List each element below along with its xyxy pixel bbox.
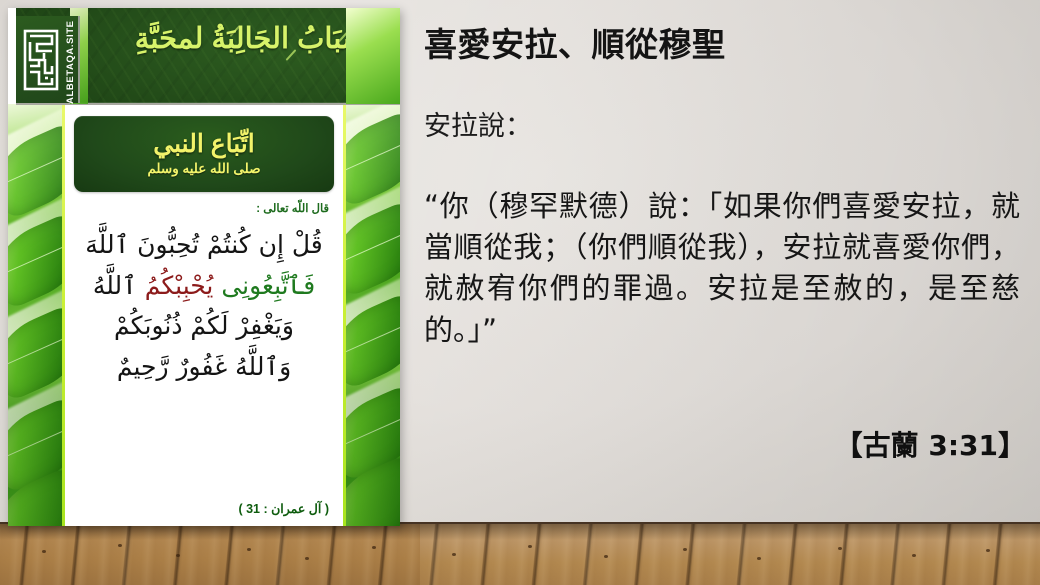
banner-corner-leaf (346, 8, 400, 104)
ayah-line-3: وَيَغْفِرْ لَكُمْ ذُنُوبَكُمْ (73, 306, 335, 347)
wood-knot (838, 547, 842, 550)
poster-qala-allah-line: قال اللّه تعالى : (256, 201, 329, 215)
ayah-word-yuhbibkum: يُحْبِبْكُمُ (145, 271, 214, 300)
wood-knot (604, 555, 608, 558)
slide-lead-in: 安拉說： (424, 104, 532, 143)
slide-quran-reference: 【古蘭 3:31】 (835, 424, 1026, 464)
poster-subtitle-salawat: صلى الله عليه وسلم (147, 161, 260, 177)
wood-knot (986, 549, 990, 552)
wood-knot (118, 544, 122, 547)
wood-knot (305, 557, 309, 560)
wood-knot (528, 545, 532, 548)
leaf-border-right-edge (343, 104, 346, 526)
wood-knot (372, 546, 376, 549)
poster-ayah-reference: ( آل عمران : 31 ) (238, 501, 329, 516)
poster-ayah-text: قُلْ إِن كُنتُمْ تُحِبُّونَ ٱللَّهَ فَٱت… (73, 225, 335, 387)
leaf-border-left (8, 104, 62, 526)
wood-knot (912, 554, 916, 557)
wood-knot (247, 548, 251, 551)
ayah-line-2: فَٱتَّبِعُونِى يُحْبِبْكُمُ ٱللَّهُ (73, 266, 335, 307)
poster-card: الأسْبَابُ الجَالِبَةُ لمحَبَّةِ اللهِ A… (8, 8, 400, 526)
slide-text-column: 喜愛安拉、順從穆聖 安拉說： “你（穆罕默德）說：「如果你們喜愛安拉，就當順從我… (420, 0, 1040, 525)
wood-knot (452, 553, 456, 556)
poster-subtitle-box: اتِّبَاع النبي صلى الله عليه وسلم (74, 116, 334, 192)
poster-subtitle-main: اتِّبَاع النبي (153, 131, 254, 157)
ayah-word-allah: ٱللَّهُ (93, 271, 137, 300)
ayah-line-4: وَٱللَّهُ غَفُورٌ رَّحِيمٌ (73, 347, 335, 388)
leaf-border-right (346, 104, 400, 526)
slide-quote-body: “你（穆罕默德）說：「如果你們喜愛安拉，就當順從我；（你們順從我），安拉就喜愛你… (424, 186, 1020, 351)
floor-contact-shadow (0, 524, 1040, 540)
slide-canvas: الأسْبَابُ الجَالِبَةُ لمحَبَّةِ اللهِ A… (0, 0, 1040, 585)
wood-knot (683, 548, 687, 551)
poster-sheet: اتِّبَاع النبي صلى الله عليه وسلم قال ال… (65, 105, 343, 526)
wood-knot (757, 557, 761, 560)
slide-title: 喜愛安拉、順從穆聖 (424, 18, 1024, 66)
albetaqa-logo[interactable]: ALBETAQA.SITE (16, 16, 80, 103)
wood-knot (176, 554, 180, 557)
wooden-floor (0, 522, 1040, 585)
logo-site-text: ALBETAQA.SITE (62, 22, 76, 102)
wood-knot (42, 550, 46, 553)
ayah-line-1: قُلْ إِن كُنتُمْ تُحِبُّونَ ٱللَّهَ (73, 225, 335, 266)
kufic-square-mark-icon (23, 29, 59, 91)
ayah-word-fattabiuni: فَٱتَّبِعُونِى (221, 271, 315, 300)
